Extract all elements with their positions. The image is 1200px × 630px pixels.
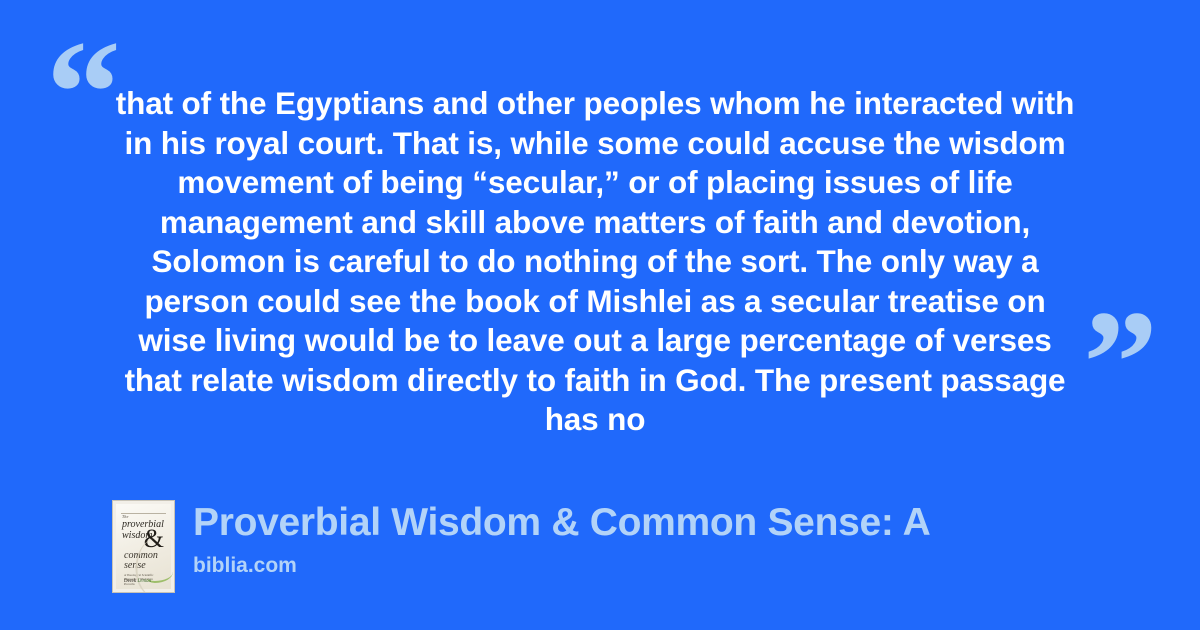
book-cover-thumbnail[interactable]: The proverbial wisdom & common sense A T… bbox=[112, 500, 175, 593]
site-name[interactable]: biblia.com bbox=[193, 553, 931, 579]
book-cover-face: The proverbial wisdom & common sense A T… bbox=[116, 504, 171, 589]
book-cover-swirl-decoration bbox=[131, 535, 175, 593]
attribution-footer[interactable]: The proverbial wisdom & common sense A T… bbox=[112, 500, 931, 593]
attribution-text-block: Proverbial Wisdom & Common Sense: A bibl… bbox=[193, 500, 931, 579]
quote-card: “ that of the Egyptians and other people… bbox=[0, 0, 1200, 630]
book-cover-author: Derek Leman bbox=[124, 579, 151, 584]
quote-text: that of the Egyptians and other peoples … bbox=[110, 84, 1080, 440]
quote-block: “ that of the Egyptians and other people… bbox=[0, 0, 1200, 440]
close-quote-icon: ” bbox=[1083, 288, 1158, 438]
book-cover-author-last: Leman bbox=[137, 579, 151, 584]
book-cover-author-first: Derek bbox=[124, 579, 137, 584]
book-title[interactable]: Proverbial Wisdom & Common Sense: A bbox=[193, 500, 931, 546]
